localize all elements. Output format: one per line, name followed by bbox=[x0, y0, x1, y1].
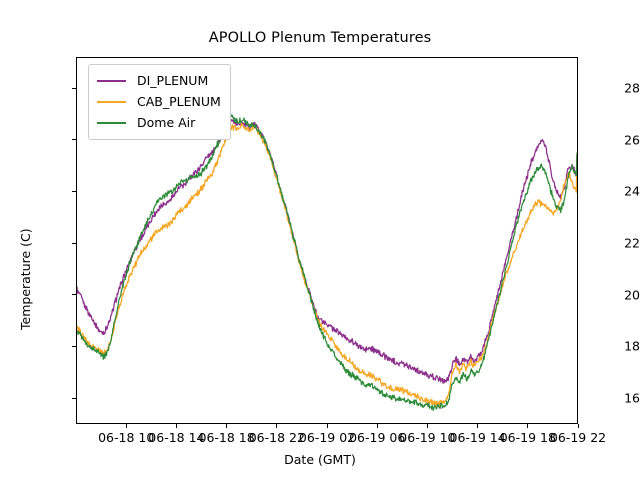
legend-color-swatch bbox=[97, 122, 126, 124]
y-axis-label: Temperature (C) bbox=[18, 228, 33, 330]
x-axis-tick-label: 06-18 22 bbox=[249, 430, 305, 445]
x-axis-label: Date (GMT) bbox=[0, 452, 640, 467]
x-axis-tick-mark bbox=[527, 424, 528, 428]
x-axis-tick-label: 06-18 10 bbox=[98, 430, 154, 445]
chart-legend: DI_PLENUMCAB_PLENUMDome Air bbox=[88, 64, 231, 140]
x-axis-tick-label: 06-19 22 bbox=[550, 430, 606, 445]
chart-figure: APOLLO Plenum Temperatures Temperature (… bbox=[0, 0, 640, 480]
x-axis-tick-label: 06-19 18 bbox=[500, 430, 556, 445]
legend-item[interactable]: DI_PLENUM bbox=[97, 70, 221, 91]
y-axis-tick-label: 16 bbox=[578, 391, 640, 406]
legend-item[interactable]: Dome Air bbox=[97, 112, 221, 133]
x-axis-tick-mark bbox=[276, 424, 277, 428]
x-axis-tick-mark bbox=[226, 424, 227, 428]
x-axis-tick-label: 06-19 14 bbox=[449, 430, 505, 445]
legend-color-swatch bbox=[97, 80, 126, 82]
legend-color-swatch bbox=[97, 101, 126, 103]
x-axis-tick-label: 06-18 18 bbox=[198, 430, 254, 445]
x-axis-tick-mark bbox=[578, 424, 579, 428]
x-axis-tick-label: 06-19 06 bbox=[349, 430, 405, 445]
x-axis-tick-mark bbox=[176, 424, 177, 428]
series-line-cab-plenum bbox=[77, 123, 577, 406]
y-axis-tick-label: 24 bbox=[578, 184, 640, 199]
legend-item[interactable]: CAB_PLENUM bbox=[97, 91, 221, 112]
x-axis-tick-mark bbox=[477, 424, 478, 428]
page-title: APOLLO Plenum Temperatures bbox=[0, 30, 640, 46]
x-axis-tick-label: 06-19 02 bbox=[299, 430, 355, 445]
y-axis-tick-label: 22 bbox=[578, 236, 640, 251]
x-axis-tick-label: 06-19 10 bbox=[399, 430, 455, 445]
legend-label: CAB_PLENUM bbox=[137, 94, 221, 109]
y-axis-tick-label: 26 bbox=[578, 132, 640, 147]
legend-label: Dome Air bbox=[137, 115, 195, 130]
x-axis-tick-label: 06-18 14 bbox=[148, 430, 204, 445]
x-axis-tick-mark bbox=[327, 424, 328, 428]
x-axis-tick-mark bbox=[377, 424, 378, 428]
y-axis-tick-label: 28 bbox=[578, 81, 640, 96]
x-axis-tick-mark bbox=[427, 424, 428, 428]
legend-label: DI_PLENUM bbox=[137, 73, 208, 88]
y-axis-tick-label: 20 bbox=[578, 287, 640, 302]
y-axis-tick-label: 18 bbox=[578, 339, 640, 354]
x-axis-tick-mark bbox=[126, 424, 127, 428]
series-line-dome-air bbox=[77, 114, 577, 410]
